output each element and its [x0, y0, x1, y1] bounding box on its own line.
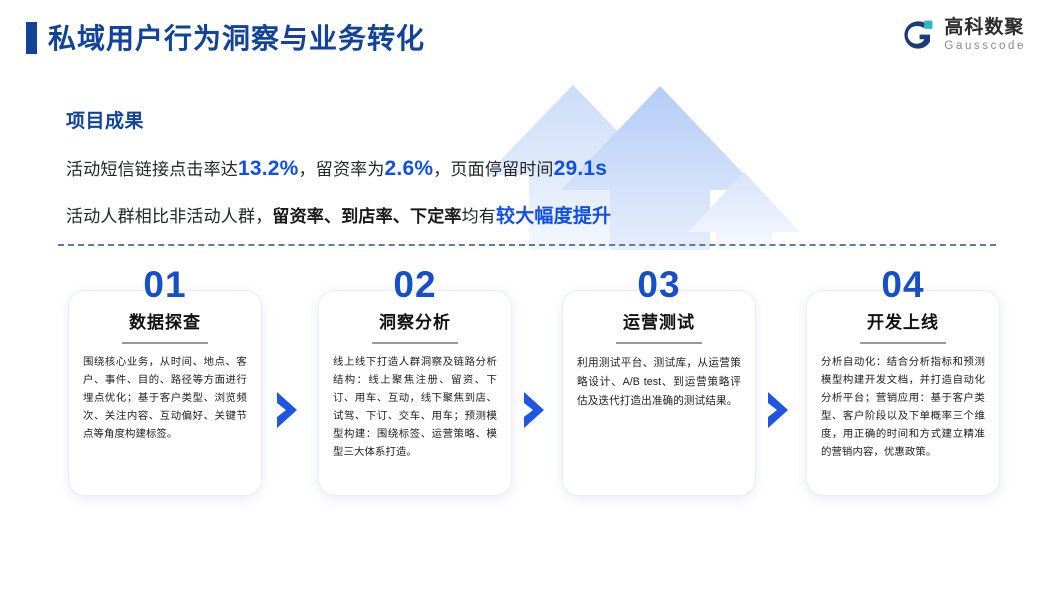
step-card-02[interactable]: 02 洞察分析 线上线下打造人群洞察及链路分析结构：线上聚焦注册、留资、下订、用… — [318, 266, 512, 496]
results-heading: 项目成果 — [66, 106, 611, 133]
step-card-body-02[interactable]: 洞察分析 线上线下打造人群洞察及链路分析结构：线上聚焦注册、留资、下订、用车、互… — [318, 290, 512, 496]
title-accent-bar — [26, 22, 37, 54]
process-steps: 01 数据探查 围绕核心业务，从时间、地点、客户、事件、目的、路径等方面进行埋点… — [0, 266, 1048, 536]
step-chevron-icon-2 — [521, 390, 547, 430]
brand-logo: 高科数聚 Gausscode — [901, 18, 1026, 53]
step-rule-01 — [122, 342, 208, 344]
results-line1-seg3: ，页面停留时间 — [433, 160, 553, 179]
page-title: 私域用户行为洞察与业务转化 — [48, 17, 425, 57]
step-title-03: 运营测试 — [577, 313, 741, 333]
results-comparison-line: 活动人群相比非活动人群，留资率、到店率、下定率均有较大幅度提升 — [66, 201, 611, 228]
metric-lead-rate: 2.6% — [385, 157, 434, 180]
project-results-section: 项目成果 活动短信链接点击率达13.2%，留资率为2.6%，页面停留时间29.1… — [66, 106, 611, 228]
brand-name-cn: 高科数聚 — [944, 18, 1026, 37]
step-card-body-03[interactable]: 运营测试 利用测试平台、测试库，从运营策略设计、A/B test、到运营策略评估… — [562, 290, 756, 496]
results-line1-seg1: 活动短信链接点击率达 — [66, 160, 238, 179]
step-rule-03 — [616, 342, 702, 344]
step-description-02: 线上线下打造人群洞察及链路分析结构：线上聚焦注册、留资、下订、用车、互动，线下聚… — [333, 354, 497, 461]
section-divider — [58, 244, 996, 246]
results-metrics-line: 活动短信链接点击率达13.2%，留资率为2.6%，页面停留时间29.1s — [66, 155, 611, 181]
slide-root: 私域用户行为洞察与业务转化 高科数聚 Gausscode 项目成果 活动短信链接… — [0, 0, 1048, 591]
page-header: 私域用户行为洞察与业务转化 高科数聚 Gausscode — [0, 0, 1048, 78]
step-number-04: 04 — [806, 266, 1000, 304]
step-rule-02 — [372, 342, 458, 344]
step-number-02: 02 — [318, 266, 512, 304]
step-title-02: 洞察分析 — [333, 313, 497, 333]
step-card-03[interactable]: 03 运营测试 利用测试平台、测试库，从运营策略设计、A/B test、到运营策… — [562, 266, 756, 496]
step-description-03: 利用测试平台、测试库，从运营策略设计、A/B test、到运营策略评估及迭代打造… — [577, 354, 741, 411]
step-card-01[interactable]: 01 数据探查 围绕核心业务，从时间、地点、客户、事件、目的、路径等方面进行埋点… — [68, 266, 262, 496]
step-title-01: 数据探查 — [83, 313, 247, 333]
step-description-04: 分析自动化：结合分析指标和预测模型构建开发文档，并打造自动化分析平台；营销应用：… — [821, 354, 985, 461]
step-number-01: 01 — [68, 266, 262, 304]
step-chevron-icon-1 — [274, 390, 300, 430]
step-description-01: 围绕核心业务，从时间、地点、客户、事件、目的、路径等方面进行埋点优化；基于客户类… — [83, 354, 247, 443]
brand-name-en: Gausscode — [944, 41, 1026, 53]
results-line2-seg2: 均有 — [462, 207, 496, 226]
metric-click-rate: 13.2% — [238, 157, 299, 180]
results-line2-bold-metrics: 留资率、到店率、下定率 — [272, 207, 461, 226]
step-rule-04 — [860, 342, 946, 344]
step-chevron-icon-3 — [765, 390, 791, 430]
gausscode-logo-icon — [901, 18, 935, 52]
step-number-03: 03 — [562, 266, 756, 304]
arrow-right-decoration — [688, 172, 800, 250]
results-line2-seg1: 活动人群相比非活动人群， — [66, 207, 272, 226]
brand-logo-text: 高科数聚 Gausscode — [944, 18, 1026, 53]
step-card-body-04[interactable]: 开发上线 分析自动化：结合分析指标和预测模型构建开发文档，并打造自动化分析平台；… — [806, 290, 1000, 496]
metric-dwell-time: 29.1s — [554, 157, 608, 180]
results-line1-seg2: ，留资率为 — [299, 160, 385, 179]
step-card-body-01[interactable]: 数据探查 围绕核心业务，从时间、地点、客户、事件、目的、路径等方面进行埋点优化；… — [68, 290, 262, 496]
results-line2-highlight: 较大幅度提升 — [496, 206, 611, 227]
step-title-04: 开发上线 — [821, 313, 985, 333]
step-card-04[interactable]: 04 开发上线 分析自动化：结合分析指标和预测模型构建开发文档，并打造自动化分析… — [806, 266, 1000, 496]
